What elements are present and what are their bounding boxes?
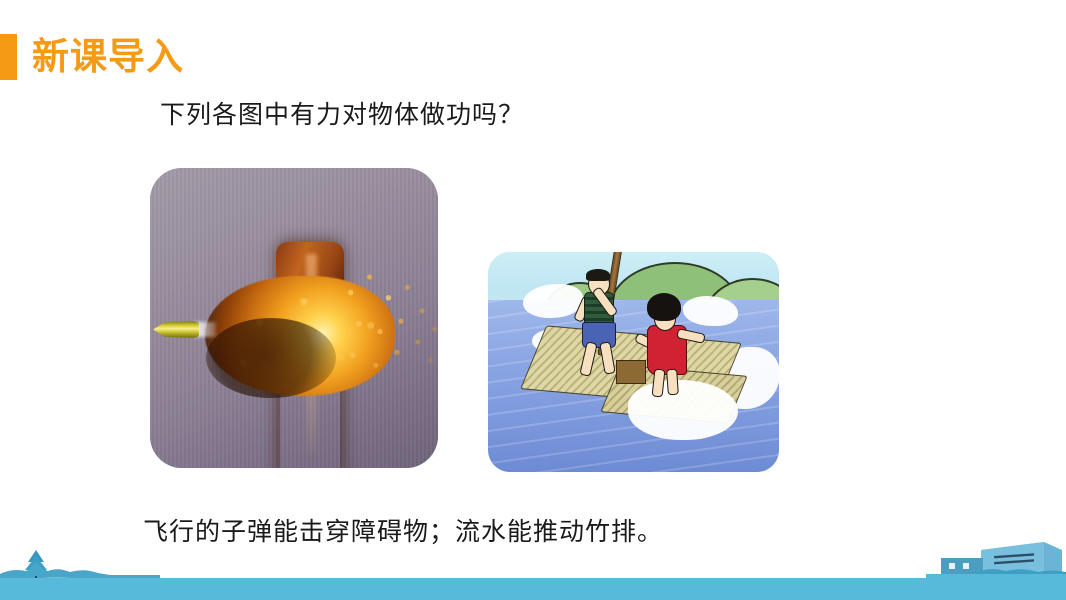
woman-leg	[652, 369, 666, 398]
debris-shadow	[206, 318, 336, 398]
debris-spray	[338, 264, 438, 394]
woman-hair	[647, 293, 681, 321]
slide-header: 新课导入	[0, 33, 184, 81]
man-hair	[586, 269, 610, 281]
man-figure	[572, 272, 632, 382]
man-leg	[579, 341, 597, 377]
page-title: 新课导入	[32, 34, 184, 80]
woman-figure	[643, 297, 709, 397]
question-prompt: 下列各图中有力对物体做功吗？	[160, 95, 524, 131]
figure-caption: 飞行的子弹能击穿障碍物；流水能推动竹排。	[143, 512, 663, 548]
bamboo-raft-illustration	[488, 252, 779, 472]
orange-accent-bar	[0, 34, 17, 80]
bottom-color-band	[0, 578, 1066, 600]
slide-canvas: 新课导入 下列各图中有力对物体做功吗？	[0, 0, 1066, 600]
woman-leg	[666, 369, 679, 396]
bullet-impact-photo	[150, 168, 438, 468]
